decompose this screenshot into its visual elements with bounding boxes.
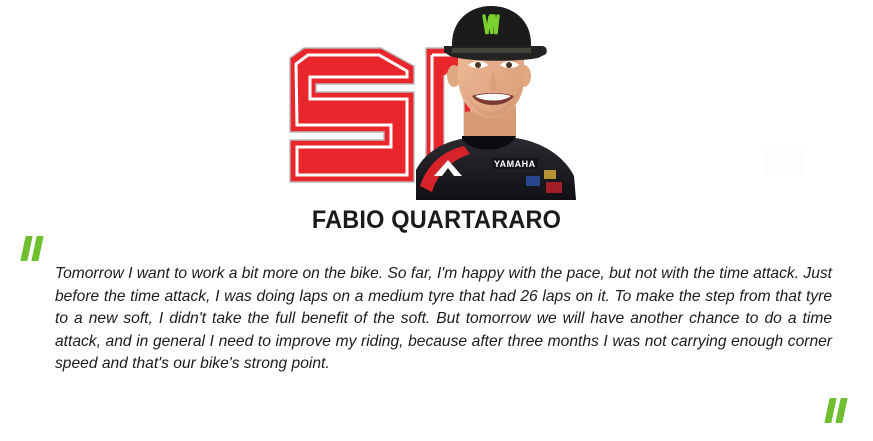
quote-close-icon bbox=[824, 398, 854, 424]
sponsor-patch bbox=[546, 182, 562, 193]
cap-band bbox=[452, 48, 531, 53]
rider-quote-card: YAMAHA bbox=[0, 0, 873, 441]
rider-photo: YAMAHA bbox=[396, 0, 596, 200]
quote-paragraph: Tomorrow I want to work a bit more on th… bbox=[55, 263, 832, 376]
yamaha-wordmark: YAMAHA bbox=[494, 159, 536, 169]
hero-stage: YAMAHA bbox=[286, 0, 596, 200]
monster-energy-logo-icon bbox=[484, 16, 498, 34]
video-placeholder-icon bbox=[765, 148, 803, 176]
hero-section: YAMAHA bbox=[0, 0, 873, 200]
sponsor-patch bbox=[526, 176, 540, 186]
page-title: FABIO QUARTARARO bbox=[26, 206, 847, 235]
pupil bbox=[506, 62, 512, 68]
sponsor-patch bbox=[544, 170, 556, 179]
quote-open-icon bbox=[20, 236, 50, 262]
rider-portrait-graphic: YAMAHA bbox=[396, 0, 596, 200]
pupil bbox=[475, 62, 481, 68]
quote-text-block: Tomorrow I want to work a bit more on th… bbox=[55, 263, 832, 376]
